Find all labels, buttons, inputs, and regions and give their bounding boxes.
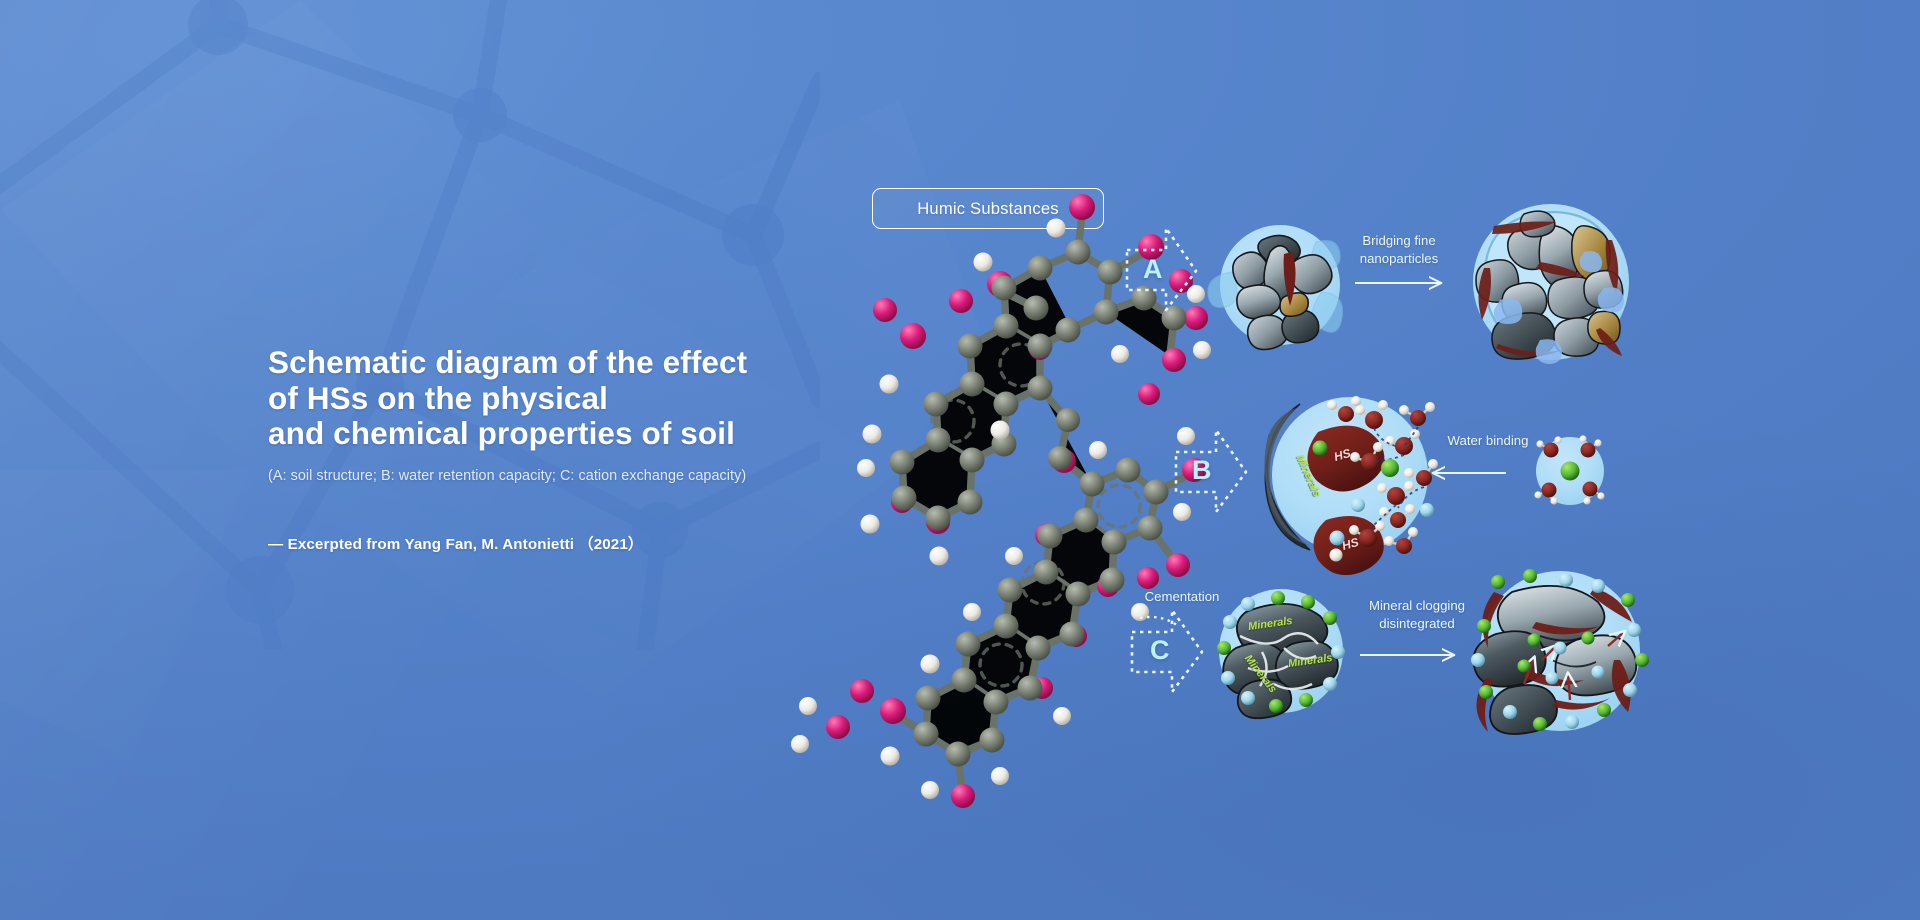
humic-substance-molecule: [791, 194, 1211, 808]
caption-mineral-clogging-disintegrated: Mineral clogging disintegrated: [1355, 597, 1479, 632]
caption-water-binding: Water binding: [1427, 432, 1549, 450]
bridged-aggregate-circle: [1473, 204, 1629, 364]
hs-mineral-water-circle: [1264, 396, 1438, 575]
loose-aggregate-circle: [1208, 225, 1343, 350]
caption-bridging-fine-nanoparticles: Bridging fine nanoparticles: [1338, 232, 1460, 267]
step-arrow-c: [1132, 610, 1202, 692]
cemented-mineral-circle: [1217, 589, 1345, 718]
disintegrated-mineral-circle: [1471, 569, 1649, 734]
caption-cementation: Cementation: [1134, 588, 1230, 606]
soil-hs-schematic: [0, 0, 1920, 920]
